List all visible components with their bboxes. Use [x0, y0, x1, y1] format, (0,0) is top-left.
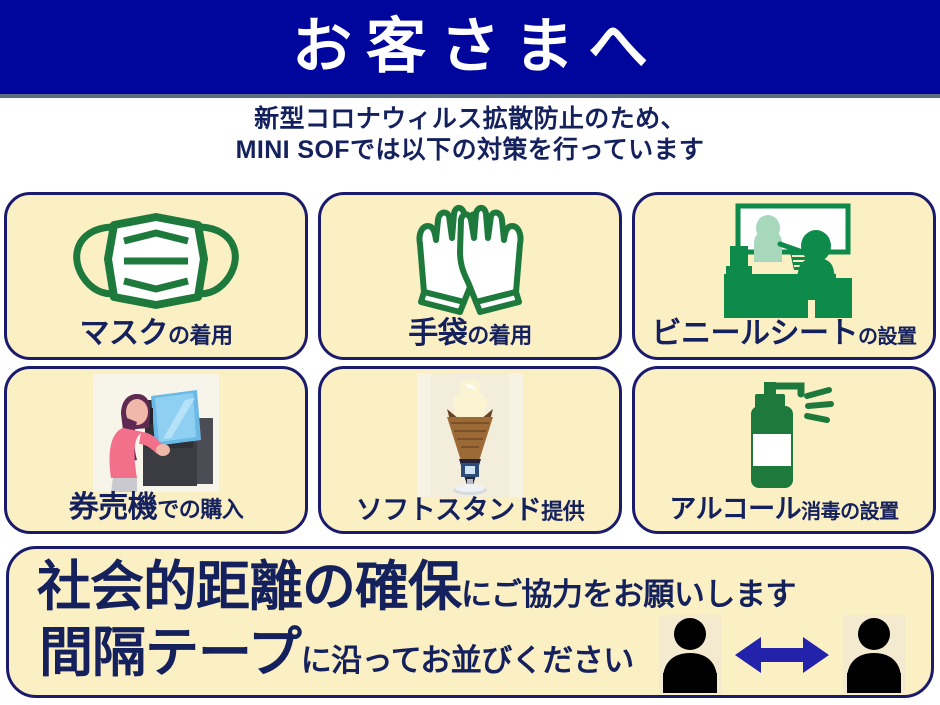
banner-line2-emphasis: 間隔テープ — [39, 625, 301, 682]
measure-label-sub: の着用 — [467, 325, 532, 347]
measure-label: アルコール 消毒の設置 — [669, 496, 898, 531]
measure-label: マスク の着用 — [79, 319, 232, 357]
measure-card-sanitizer: アルコール 消毒の設置 — [632, 366, 936, 534]
measure-label-main: アルコール — [669, 496, 801, 523]
subtitle-block: 新型コロナウィルス拡散防止のため、 MINI SOFでは以下の対策を行っています — [0, 104, 940, 166]
soft-serve-ice-cream-icon — [417, 373, 523, 497]
measure-label-main: マスク — [79, 319, 168, 349]
subtitle-line-1: 新型コロナウィルス拡散防止のため、 — [0, 104, 940, 135]
measure-label-main: 手袋 — [408, 319, 467, 349]
measure-label-sub: 提供 — [541, 501, 584, 523]
page-title: お客さまへ — [278, 17, 662, 77]
header-bar: お客さまへ — [0, 0, 940, 94]
measure-card-vinyl-sheet: ビニールシート の設置 — [632, 192, 936, 360]
ticket-vending-machine-icon — [93, 374, 219, 492]
measure-label-main: ビニールシート — [652, 319, 859, 349]
banner-line2-rest: に沿ってお並びください — [301, 645, 634, 678]
social-distance-banner: 社会的距離の確保 にご協力をお願いします 間隔テープ に沿ってお並びください — [6, 546, 934, 698]
measure-card-mask: マスク の着用 — [4, 192, 308, 360]
measure-card-gloves: 手袋 の着用 — [318, 192, 622, 360]
measure-card-soft-serve: ソフトスタンド 提供 — [318, 366, 622, 534]
gloves-icon — [390, 200, 550, 318]
banner-line-2: 間隔テープ に沿ってお並びください — [39, 625, 634, 682]
alcohol-sanitizer-icon — [709, 376, 859, 494]
measure-label: ビニールシート の設置 — [652, 319, 917, 357]
poster: お客さまへ 新型コロナウィルス拡散防止のため、 MINI SOFでは以下の対策を… — [0, 0, 940, 705]
measure-label: 手袋 の着用 — [408, 319, 532, 357]
measure-label-sub: での購入 — [157, 499, 243, 521]
measures-grid: マスク の着用 手袋 の着用 — [4, 192, 936, 534]
face-mask-icon — [56, 207, 256, 311]
measure-card-vending-machine: 券売機 での購入 — [4, 366, 308, 534]
measure-label-main: ソフトスタンド — [356, 497, 542, 524]
vinyl-sheet-counter-icon — [704, 200, 864, 318]
banner-line1-rest: にご協力をお願いします — [461, 579, 796, 612]
measure-icon-wrap — [321, 369, 619, 497]
banner-line-1: 社会的距離の確保 にご協力をお願いします — [37, 559, 796, 616]
measure-icon-wrap — [321, 195, 619, 319]
measure-label: 券売機 での購入 — [69, 493, 244, 531]
measure-icon-wrap — [7, 195, 305, 319]
measure-icon-wrap — [7, 369, 305, 493]
subtitle-line-2: MINI SOFでは以下の対策を行っています — [0, 135, 940, 166]
measure-icon-wrap — [635, 195, 933, 319]
measure-label-sub: の着用 — [168, 325, 233, 347]
measure-icon-wrap — [635, 369, 933, 496]
measure-label: ソフトスタンド 提供 — [356, 497, 585, 532]
social-distance-figures-icon — [651, 615, 913, 695]
measure-label-sub: 消毒の設置 — [801, 502, 899, 522]
measure-label-main: 券売機 — [69, 493, 158, 523]
header-divider — [0, 94, 940, 98]
banner-line1-emphasis: 社会的距離の確保 — [37, 559, 461, 616]
measure-label-sub: の設置 — [858, 327, 917, 347]
